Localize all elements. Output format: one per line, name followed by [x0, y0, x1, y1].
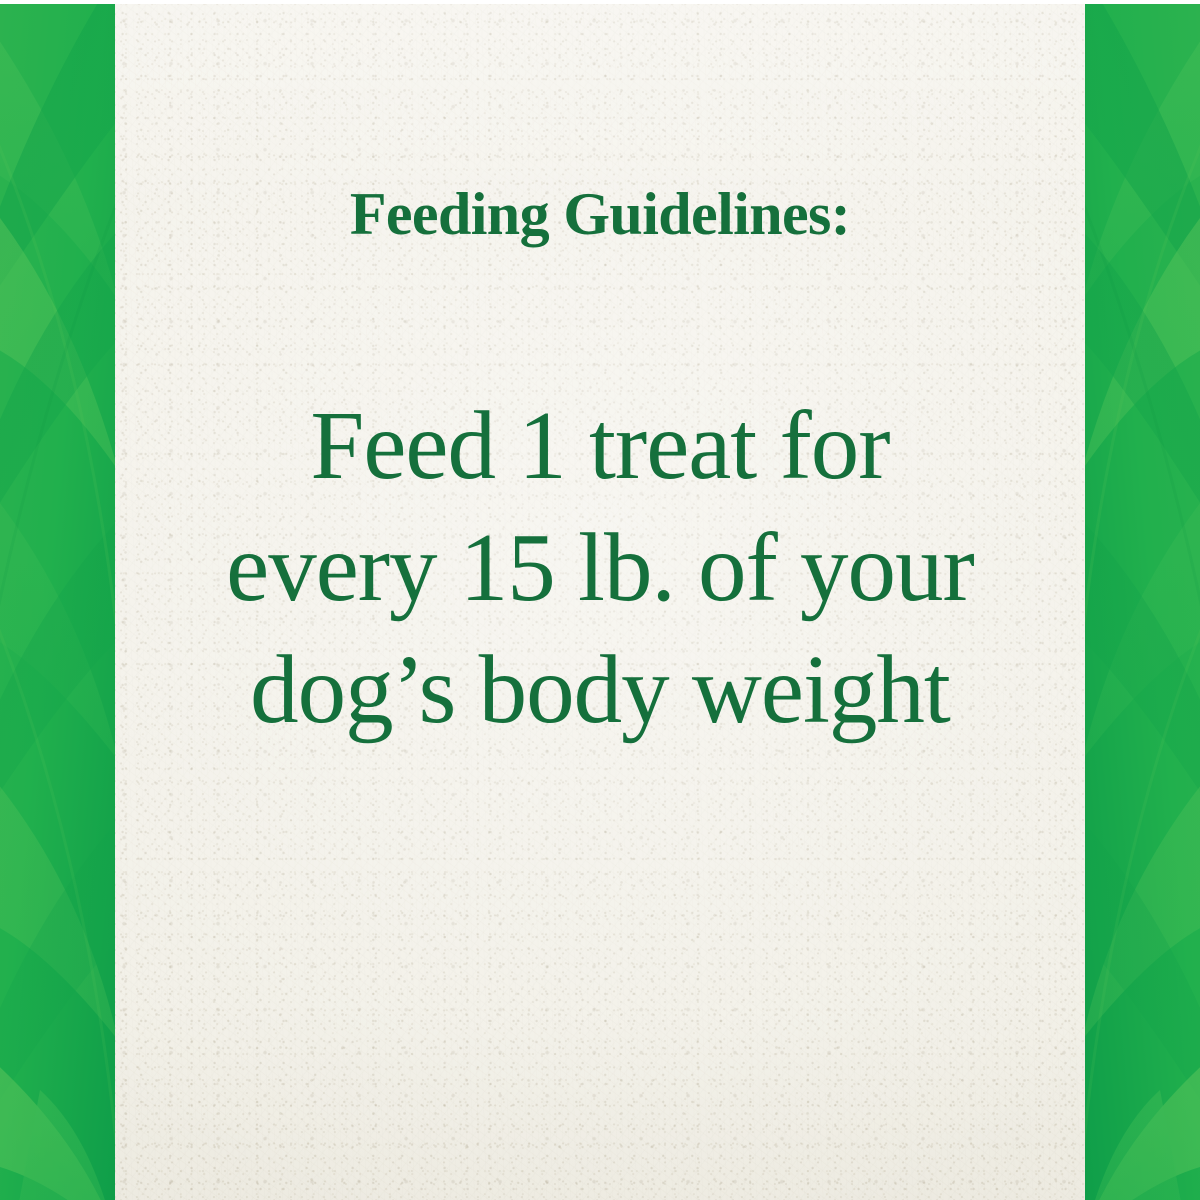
left-leaf-pattern-band — [0, 0, 115, 1200]
leaf-pattern-graphic — [1085, 0, 1200, 1200]
leaf-pattern-graphic — [0, 0, 115, 1200]
instruction-line-3: dog’s body weight — [115, 629, 1085, 751]
feeding-copy-stack: Feeding Guidelines: Feed 1 treat for eve… — [115, 0, 1085, 1200]
feeding-guidelines-panel: Feeding Guidelines: Feed 1 treat for eve… — [0, 0, 1200, 1200]
instruction-line-2: every 15 lb. of your — [115, 507, 1085, 629]
instruction-line-1: Feed 1 treat for — [115, 385, 1085, 507]
feeding-guidelines-heading: Feeding Guidelines: — [115, 178, 1085, 250]
right-leaf-pattern-band — [1085, 0, 1200, 1200]
top-white-edge-strip — [0, 0, 1200, 4]
feeding-instruction-block: Feed 1 treat for every 15 lb. of your do… — [115, 385, 1085, 751]
